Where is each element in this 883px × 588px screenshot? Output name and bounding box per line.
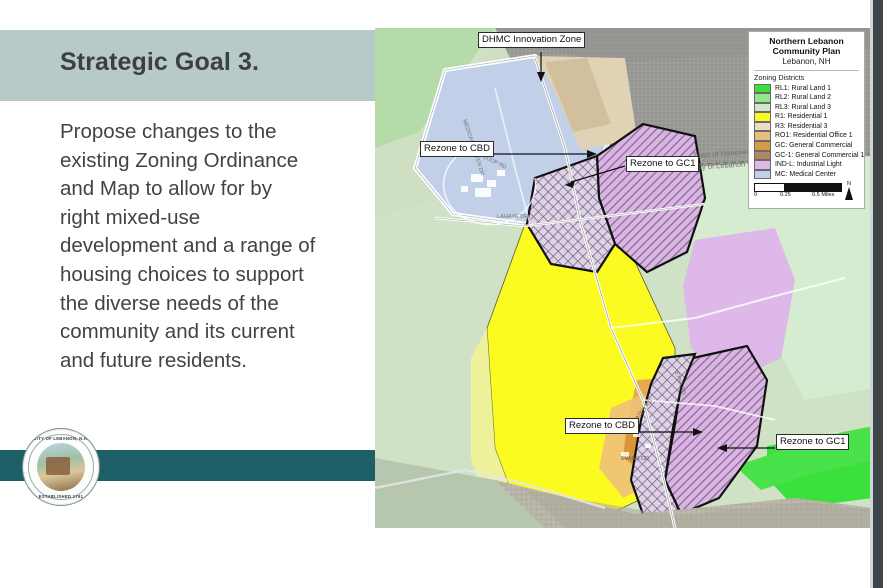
legend-label-rl2: RL2: Rural Land 2	[775, 93, 831, 103]
legend-item-rl3: RL3: Rural Land 3	[754, 103, 859, 113]
legend-item-gc: GC: General Commercial	[754, 141, 859, 151]
legend-swatch-rl1	[754, 84, 771, 94]
legend-title-line2: Community Plan	[754, 46, 859, 56]
legend-item-r3: R3: Residential 3	[754, 122, 859, 132]
legend-label-r1: R1: Residential 1	[775, 112, 827, 122]
map-legend: Northern Lebanon Community Plan Lebanon,…	[748, 31, 865, 209]
scale-bar	[754, 183, 842, 192]
scale-tick-025: 0.25	[780, 192, 791, 198]
callout-dhmc-innovation-zone[interactable]: DHMC Innovation Zone	[478, 32, 585, 48]
callout-rezone-to-cbd-north[interactable]: Rezone to CBD	[420, 141, 494, 157]
legend-label-gc: GC: General Commercial	[775, 141, 852, 151]
north-arrow-label: N	[841, 181, 857, 187]
legend-section-header: Zoning Districts	[754, 73, 859, 84]
seal-top-text: CITY OF LEBANON, N.H.	[23, 436, 99, 441]
legend-label-rl3: RL3: Rural Land 3	[775, 103, 831, 113]
north-arrow: N	[841, 181, 857, 200]
body-line: the diverse needs of the	[60, 290, 360, 319]
body-line: and future residents.	[60, 347, 360, 376]
legend-label-mc: MC: Medical Center	[775, 170, 836, 180]
legend-title-line1: Northern Lebanon	[754, 36, 859, 46]
legend-swatch-indl	[754, 160, 771, 170]
seal-emblem	[37, 443, 85, 491]
legend-item-rl1: RL1: Rural Land 1	[754, 84, 859, 94]
legend-item-rl2: RL2: Rural Land 2	[754, 93, 859, 103]
scale-seg-1	[755, 184, 784, 191]
body-line: housing choices to support	[60, 261, 360, 290]
legend-label-ro1: RO1: Residential Office 1	[775, 131, 853, 141]
legend-item-r1: R1: Residential 1	[754, 112, 859, 122]
legend-label-gc1: GC-1: General Commercial 1	[775, 151, 864, 161]
body-line: existing Zoning Ordinance	[60, 147, 360, 176]
road-label-evans-dr: EVANS DR	[621, 456, 649, 462]
scale-bar-ticks: 0 0.25 0.5 Miles	[754, 192, 844, 201]
legend-label-r3: R3: Residential 3	[775, 122, 827, 132]
body-line: Propose changes to the	[60, 118, 360, 147]
body-line: right mixed-use	[60, 204, 360, 233]
goal-body-text: Propose changes to the existing Zoning O…	[60, 118, 360, 375]
legend-swatch-rl2	[754, 93, 771, 103]
legend-swatch-gc1	[754, 151, 771, 161]
scale-seg-2	[784, 184, 813, 191]
callout-rezone-to-gc1-south[interactable]: Rezone to GC1	[776, 434, 849, 450]
callout-rezone-to-cbd-south[interactable]: Rezone to CBD	[565, 418, 639, 434]
scale-tick-05: 0.5 Miles	[812, 192, 834, 198]
body-line: development and a range of	[60, 232, 360, 261]
legend-swatch-r3	[754, 122, 771, 132]
legend-label-rl1: RL1: Rural Land 1	[775, 84, 831, 94]
body-line: community and its current	[60, 318, 360, 347]
zoning-map[interactable]: Town of Hanover City of Lebanon MEDICAL …	[375, 28, 873, 528]
north-arrow-icon	[845, 187, 853, 200]
title-band: Strategic Goal 3.	[0, 30, 378, 101]
legend-swatch-rl3	[754, 103, 771, 113]
legend-item-indl: IND-L: Industrial Light	[754, 160, 859, 170]
legend-swatch-mc	[754, 170, 771, 180]
legend-swatch-gc	[754, 141, 771, 151]
legend-item-gc1: GC-1: General Commercial 1	[754, 151, 859, 161]
page-title: Strategic Goal 3.	[60, 48, 259, 77]
slide-canvas: Strategic Goal 3. Propose changes to the…	[0, 0, 883, 588]
legend-divider	[754, 70, 859, 71]
scale-seg-3	[812, 184, 841, 191]
legend-item-ro1: RO1: Residential Office 1	[754, 131, 859, 141]
legend-label-indl: IND-L: Industrial Light	[775, 160, 842, 170]
legend-swatch-ro1	[754, 131, 771, 141]
legend-item-mc: MC: Medical Center	[754, 170, 859, 180]
city-of-lebanon-seal: CITY OF LEBANON, N.H. ESTABLISHED 1761	[22, 428, 100, 506]
legend-subtitle: Lebanon, NH	[754, 56, 859, 69]
legend-swatch-r1	[754, 112, 771, 122]
right-edge-strip	[873, 0, 883, 588]
body-line: and Map to allow for by	[60, 175, 360, 204]
road-label-lahaye-dr: LAHAYE DR	[497, 214, 528, 220]
scale-bar-group: 0 0.25 0.5 Miles N	[754, 183, 859, 205]
callout-rezone-to-gc1-north[interactable]: Rezone to GC1	[626, 156, 699, 172]
seal-bottom-text: ESTABLISHED 1761	[23, 494, 99, 499]
scale-tick-0: 0	[754, 192, 757, 198]
